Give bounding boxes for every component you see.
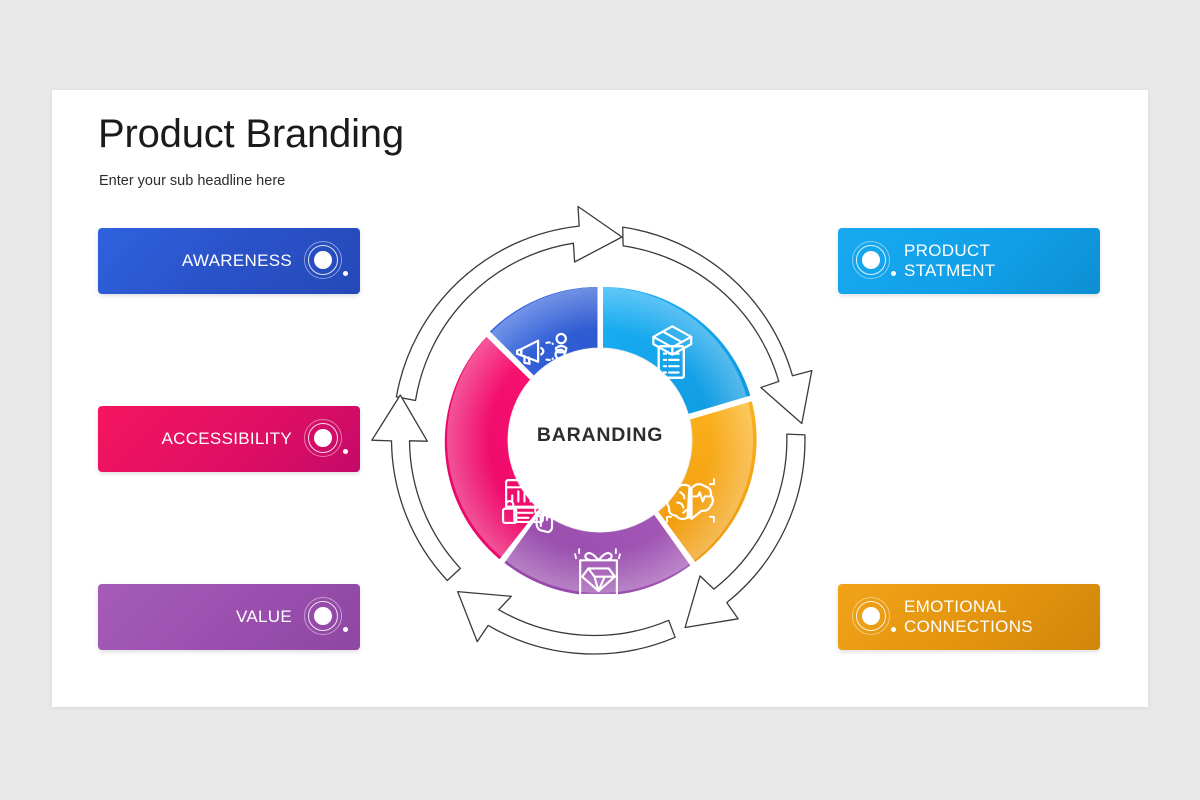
label-accessibility-text: ACCESSIBILITY	[162, 429, 293, 449]
label-awareness[interactable]: AWARENESS	[98, 228, 360, 294]
ring-marker-icon	[304, 419, 344, 459]
cycle-arrow-4	[458, 592, 675, 654]
label-value-text: VALUE	[236, 607, 292, 627]
page-title: Product Branding	[98, 112, 404, 157]
label-emotional-connections[interactable]: EMOTIONAL CONNECTIONS	[838, 584, 1100, 650]
slide-canvas: Product Branding Enter your sub headline…	[52, 90, 1148, 707]
label-product-statement[interactable]: PRODUCT STATMENT	[838, 228, 1100, 294]
label-accessibility[interactable]: ACCESSIBILITY	[98, 406, 360, 472]
label-awareness-text: AWARENESS	[182, 251, 292, 271]
branding-cycle-diagram: BARANDING	[360, 200, 840, 680]
page-subtitle: Enter your sub headline here	[99, 173, 285, 189]
label-value[interactable]: VALUE	[98, 584, 360, 650]
label-emotional-connections-text: EMOTIONAL CONNECTIONS	[904, 597, 1033, 637]
ring-marker-icon	[304, 241, 344, 281]
ring-marker-icon	[852, 597, 892, 637]
label-product-statement-text: PRODUCT STATMENT	[904, 241, 995, 281]
ring-marker-icon	[852, 241, 892, 281]
ring-marker-icon	[304, 597, 344, 637]
